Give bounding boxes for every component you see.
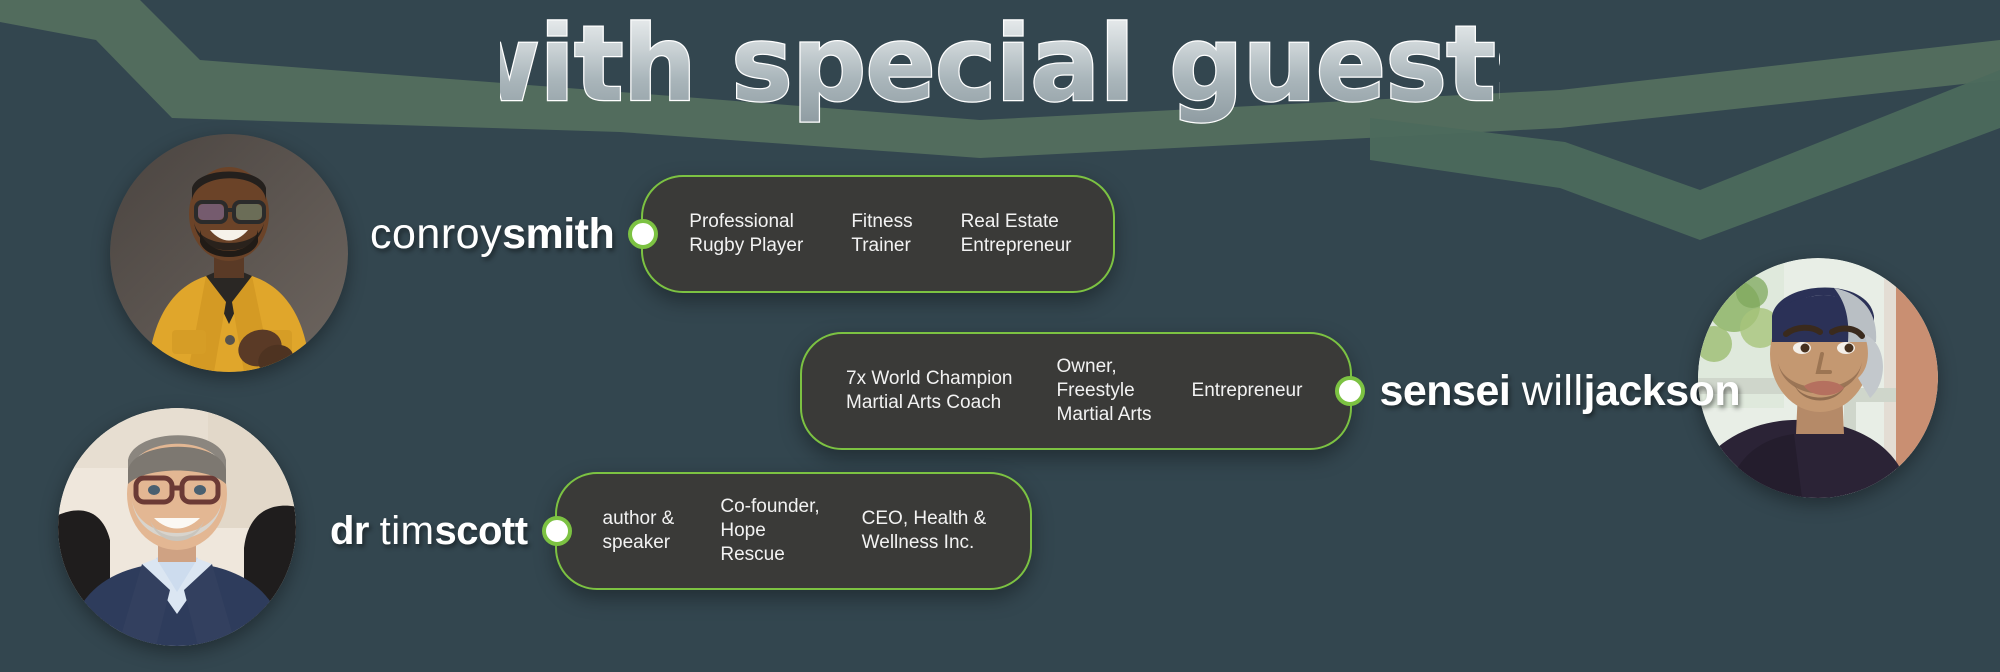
credentials-badge-tim-scott: author & speaker Co-founder, Hope Rescue… (555, 472, 1033, 590)
guest-last-name: jackson (1584, 367, 1741, 415)
guest-row-will-jackson: 7x World Champion Martial Arts Coach Own… (800, 332, 1740, 450)
guest-name-conroy-smith: conroysmith (370, 213, 614, 256)
credential-item: Entrepreneur (1178, 379, 1317, 403)
credential-item: Co-founder, Hope Rescue (706, 495, 847, 568)
special-guests-banner: with special guests (0, 0, 2000, 672)
connector-dot-icon (542, 516, 572, 546)
credential-item: Professional Rugby Player (683, 210, 837, 259)
guest-portrait-tim-scott (58, 408, 296, 646)
credential-item: Real Estate Entrepreneur (947, 210, 1086, 259)
credentials-badge-conroy-smith: Professional Rugby Player Fitness Traine… (641, 175, 1115, 293)
credential-item: Fitness Trainer (837, 210, 946, 259)
guest-first-name: will (1522, 367, 1584, 415)
guest-last-name: smith (502, 210, 614, 258)
page-title-text: with special guests (500, 8, 1500, 125)
guest-title-prefix: sensei (1379, 367, 1510, 415)
credential-item: CEO, Health & Wellness Inc. (848, 507, 1001, 556)
guest-last-name: scott (434, 509, 527, 553)
guest-name-tim-scott: dr timscott (330, 511, 528, 551)
guest-first-name: conroy (370, 210, 502, 258)
guest-name-will-jackson: sensei willjackson (1379, 370, 1740, 413)
guest-title-prefix: dr (330, 509, 369, 553)
page-title: with special guests (0, 8, 2000, 138)
guest-row-conroy-smith: conroysmith Professional Rugby Player Fi… (370, 175, 1115, 293)
credentials-badge-will-jackson: 7x World Champion Martial Arts Coach Own… (800, 332, 1352, 450)
guest-portrait-conroy-smith (110, 134, 348, 372)
credential-item: Owner, Freestyle Martial Arts (1043, 355, 1178, 428)
credential-item: author & speaker (597, 507, 707, 556)
connector-dot-icon (1335, 376, 1365, 406)
credential-item: 7x World Champion Martial Arts Coach (832, 367, 1043, 416)
guest-row-tim-scott: dr timscott author & speaker Co-founder,… (330, 472, 1032, 590)
guest-first-name: tim (380, 509, 435, 553)
page-title-graphic: with special guests (500, 8, 1500, 130)
